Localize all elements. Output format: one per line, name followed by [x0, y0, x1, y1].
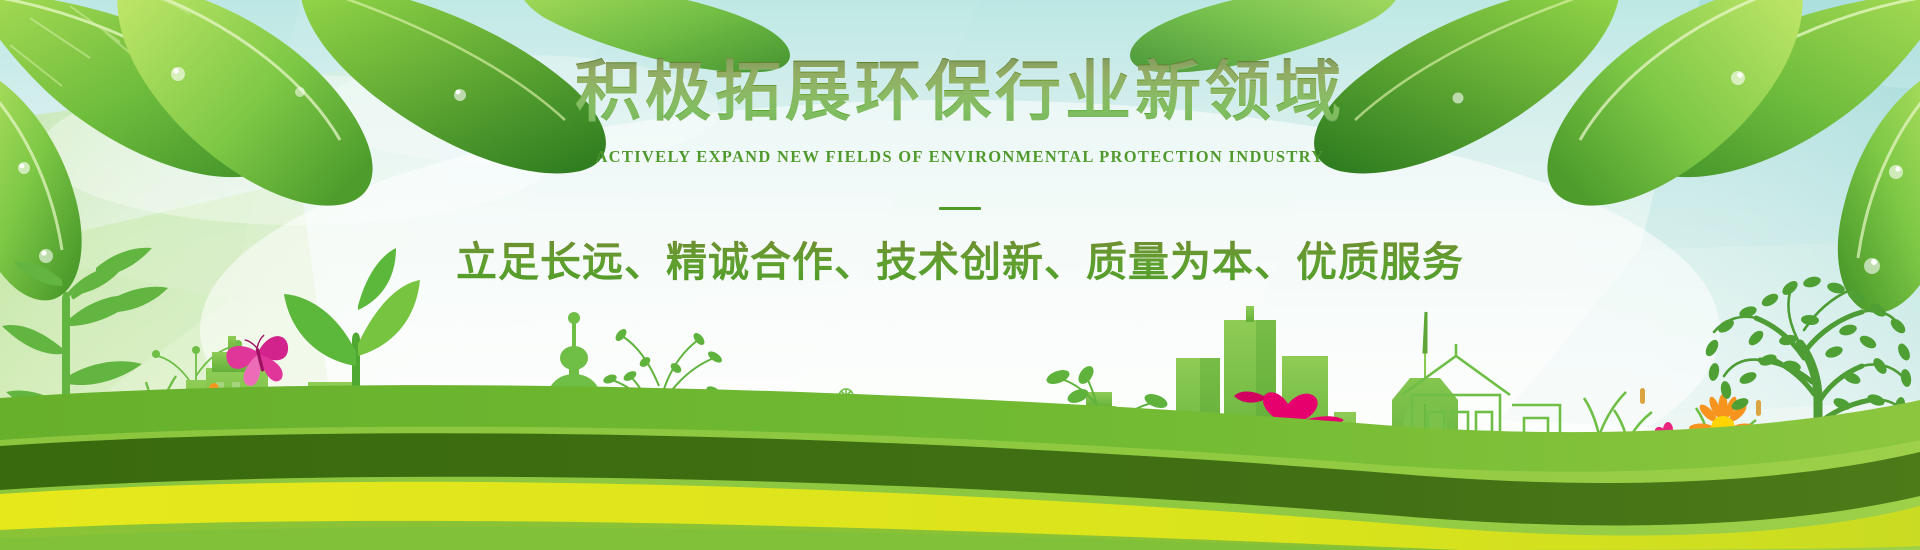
banner-text-block: 积极拓展环保行业新领域 ACTIVELY EXPAND NEW FIELDS O…: [0, 58, 1920, 288]
page-title: 积极拓展环保行业新领域: [0, 58, 1920, 127]
page-subtitle: ACTIVELY EXPAND NEW FIELDS OF ENVIRONMEN…: [0, 147, 1920, 167]
title-divider: [939, 207, 981, 210]
page-tagline: 立足长远、精诚合作、技术创新、质量为本、优质服务: [0, 228, 1920, 288]
eco-banner: 积极拓展环保行业新领域 ACTIVELY EXPAND NEW FIELDS O…: [0, 0, 1920, 550]
divider-wrapper: [0, 197, 1920, 200]
